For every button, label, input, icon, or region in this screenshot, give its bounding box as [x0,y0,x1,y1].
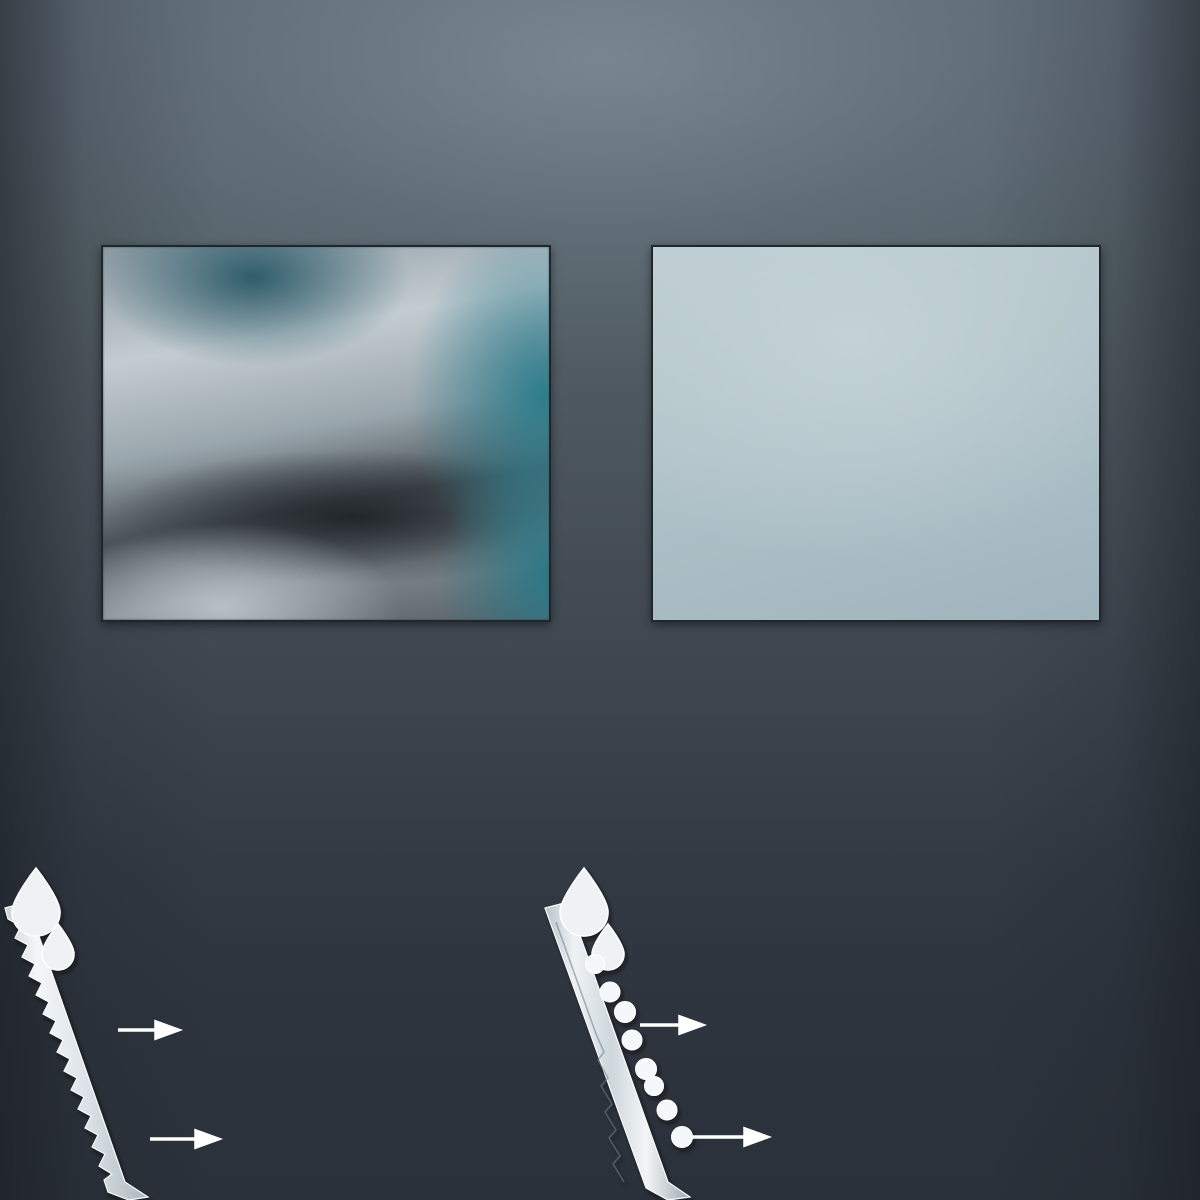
arrow-head-glass-surface [196,1131,218,1147]
photo-right-droplet-overlay [653,247,1099,620]
diagram-others [5,868,148,1200]
arrow-head-nano-layer [680,1017,702,1033]
glass-slab-uneven [5,902,148,1200]
infographic-canvas [0,0,1200,1200]
arrow-head-water-curtain [156,1022,178,1038]
photo-ordinary-glass [101,245,551,622]
photo-left-droplet-overlay [103,247,549,620]
water-drop-large-right [560,868,608,936]
photo-nano-glass [651,245,1101,622]
diagram-layer [0,860,1200,1200]
diagram-others-arrows [118,1022,218,1147]
diagram-ours [545,868,693,1200]
water-drop-large [12,868,60,936]
arrow-head-drop-of-water [745,1129,767,1145]
